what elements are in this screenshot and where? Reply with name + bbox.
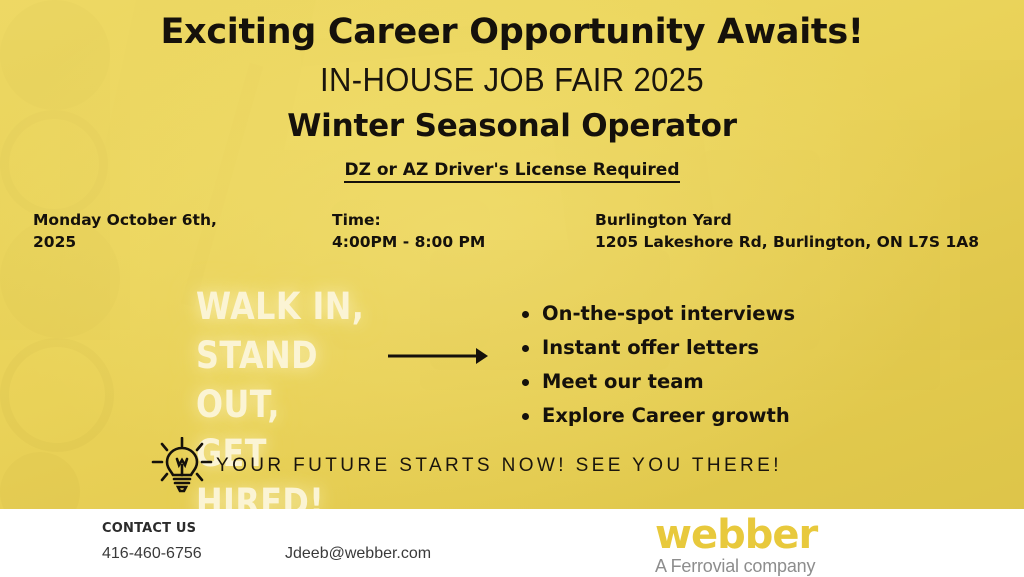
job-fair-poster: webber webber Exciting Career Opportunit… (0, 0, 1024, 577)
benefits-list: On-the-spot interviews Instant offer let… (516, 297, 795, 433)
logo-wordmark: webber (655, 515, 915, 555)
event-venue-name: Burlington Yard (595, 209, 995, 231)
license-requirement: DZ or AZ Driver's License Required (0, 160, 1024, 180)
list-item: Instant offer letters (542, 331, 795, 365)
webber-logo: webber A Ferrovial company (655, 515, 915, 577)
event-time: Time: 4:00PM - 8:00 PM (332, 209, 572, 253)
event-title: IN-HOUSE JOB FAIR 2025 (31, 61, 994, 99)
contact-phone[interactable]: 416-460-6756 (102, 545, 202, 563)
event-date: Monday October 6th, 2025 (33, 209, 283, 253)
logo-tagline: A Ferrovial company (655, 555, 915, 577)
event-time-value: 4:00PM - 8:00 PM (332, 231, 572, 253)
slogan-line-2: STAND OUT, (196, 331, 368, 429)
license-requirement-text: DZ or AZ Driver's License Required (344, 160, 679, 183)
role-title: Winter Seasonal Operator (0, 108, 1024, 144)
list-item: On-the-spot interviews (542, 297, 795, 331)
event-date-line-1: Monday October 6th, (33, 209, 283, 231)
tagline: YOUR FUTURE STARTS NOW! SEE YOU THERE! (216, 455, 782, 477)
event-location: Burlington Yard 1205 Lakeshore Rd, Burli… (595, 209, 995, 253)
slogan-line-1: WALK IN, (196, 282, 368, 331)
contact-us-label: CONTACT US (102, 521, 196, 536)
slogan: WALK IN, STAND OUT, GET HIRED! (196, 282, 368, 527)
contact-email[interactable]: Jdeeb@webber.com (285, 545, 431, 563)
footer: CONTACT US 416-460-6756 Jdeeb@webber.com… (0, 509, 1024, 577)
lightbulb-icon (148, 437, 216, 495)
list-item: Meet our team (542, 365, 795, 399)
event-venue-address: 1205 Lakeshore Rd, Burlington, ON L7S 1A… (595, 231, 995, 253)
event-date-line-2: 2025 (33, 231, 283, 253)
page-title: Exciting Career Opportunity Awaits! (0, 12, 1024, 52)
event-time-label: Time: (332, 209, 572, 231)
arrow-right-icon (388, 345, 488, 367)
list-item: Explore Career growth (542, 399, 795, 433)
